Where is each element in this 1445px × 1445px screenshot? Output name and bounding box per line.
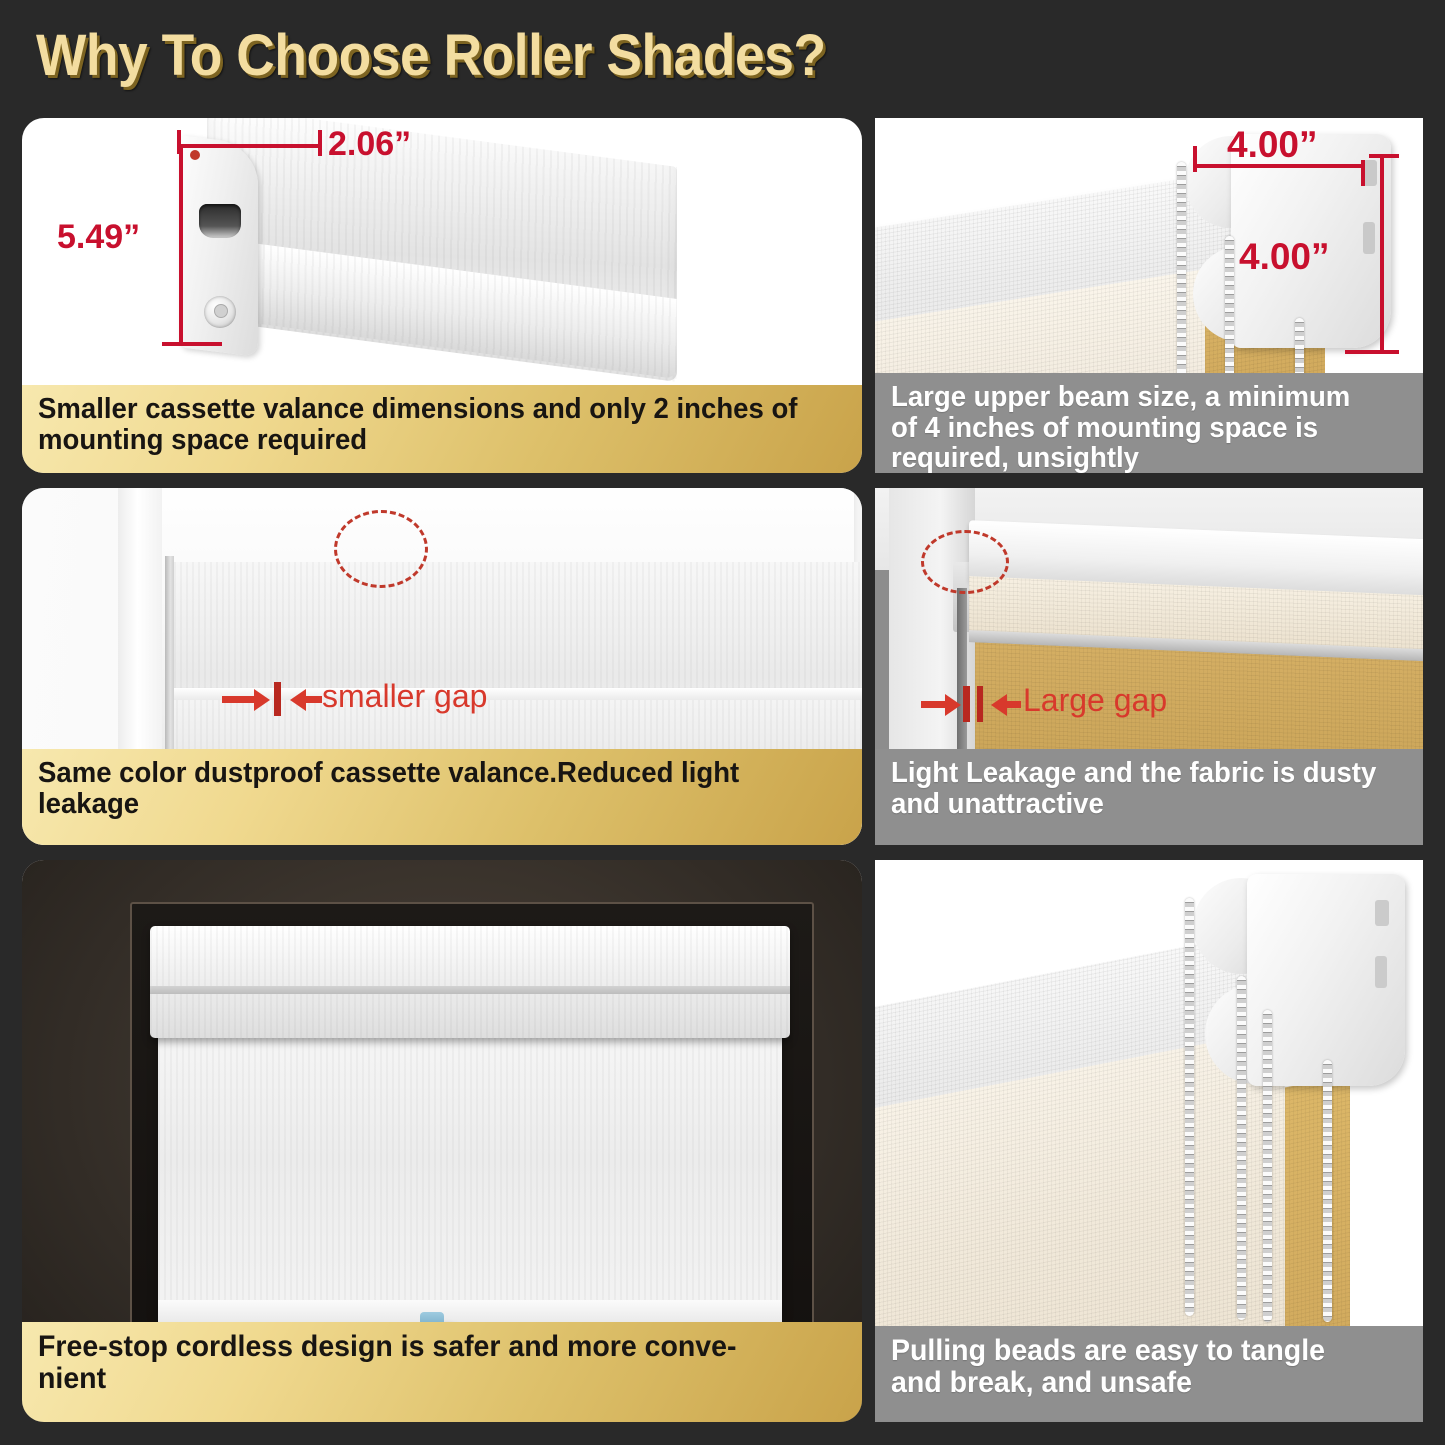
width-dimension-line (177, 144, 322, 148)
bracket-slot-top (1363, 160, 1377, 186)
beam-width-tick-left (1193, 146, 1197, 172)
bead-chain-right (1323, 1060, 1332, 1322)
width-dimension-tick-right (318, 130, 322, 156)
dimension-anchor-dot (190, 150, 200, 160)
valance-seam-line (150, 986, 790, 994)
infographic-page: Why To Choose Roller Shades? 2.06” 5.49”… (0, 0, 1445, 1445)
bead-chain-inner (1263, 1010, 1272, 1322)
gap-label-large: Large gap (1023, 682, 1167, 719)
gap-arrow-right-shaft (304, 696, 322, 703)
caption-large-upper-beam: Large upper beam size, a minimum of 4 in… (875, 373, 1423, 473)
cassette-valance (150, 926, 790, 1038)
gap-arrow-left-shaft (222, 696, 256, 703)
caption-text: Smaller cassette valance dimensions and … (38, 394, 806, 455)
caption-free-stop-cordless-design: Free-stop cordless design is safer and m… (22, 1322, 862, 1422)
gap-marker-line (274, 682, 281, 716)
gap-marker-line-a (963, 686, 970, 722)
beam-height-tick-top (1369, 154, 1399, 158)
bracket-slot-top (1375, 900, 1389, 926)
page-title: Why To Choose Roller Shades? (36, 22, 826, 89)
bead-chain-middle (1237, 976, 1246, 1320)
panel-light-leakage-dusty-fabric: Large gap Light Leakage and the fabric i… (875, 488, 1423, 845)
valance-slot (199, 204, 241, 238)
beam-width-label: 4.00” (1227, 124, 1318, 166)
beam-height-tick-bottom (1345, 350, 1399, 354)
bracket-slot-bottom (1375, 956, 1387, 988)
caption-text: Pulling beads are easy to tangle and bre… (891, 1335, 1381, 1399)
caption-text: Light Leakage and the fabric is dusty an… (891, 758, 1381, 819)
shade-fabric (158, 1028, 782, 1318)
caption-text-line1: Free-stop cordless design is safer and m… (38, 1331, 806, 1363)
bead-chain-left (1177, 162, 1186, 388)
beam-width-tick-right (1361, 160, 1365, 186)
valance-screw-head (214, 304, 228, 318)
height-dimension-tick-bottom (162, 342, 222, 346)
caption-cassette-valance-dimensions: Smaller cassette valance dimensions and … (22, 385, 862, 473)
gap-label-smaller: smaller gap (322, 678, 487, 715)
bead-chain-middle (1225, 236, 1234, 388)
height-dimension-line (179, 144, 183, 346)
caption-dustproof-cassette-valance: Same color dustproof cassette valance.Re… (22, 749, 862, 845)
caption-light-leakage-dusty-fabric: Light Leakage and the fabric is dusty an… (875, 749, 1423, 845)
caption-text: Large upper beam size, a minimum of 4 in… (891, 382, 1381, 473)
panel-free-stop-cordless-design: Free-stop cordless design is safer and m… (22, 860, 862, 1422)
width-dimension-label: 2.06” (328, 125, 411, 164)
height-dimension-label: 5.49” (57, 218, 140, 257)
caption-pulling-beads-unsafe: Pulling beads are easy to tangle and bre… (875, 1326, 1423, 1422)
highlight-ellipse-icon (334, 510, 428, 588)
panel-dustproof-cassette-valance: smaller gap Same color dustproof cassett… (22, 488, 862, 845)
caption-text: Same color dustproof cassette valance.Re… (38, 758, 806, 819)
panel-pulling-beads-unsafe: Pulling beads are easy to tangle and bre… (875, 860, 1423, 1422)
bead-chain-left (1185, 898, 1194, 1316)
highlight-ellipse-icon (921, 530, 1009, 594)
gap-arrow-left-head (254, 689, 270, 711)
gap-arrow-left-head (945, 694, 961, 716)
caption-text-line2: nient (38, 1363, 806, 1395)
panel-cassette-valance-dimensions: 2.06” 5.49” Smaller cassette valance dim… (22, 118, 862, 473)
beam-height-label: 4.00” (1239, 236, 1330, 278)
panel-large-upper-beam: 4.00” 4.00” Large upper beam size, a min… (875, 118, 1423, 473)
bracket-slot-bottom (1363, 222, 1375, 254)
gap-arrow-left-shaft (921, 701, 947, 708)
gap-arrow-right-shaft (1005, 701, 1021, 708)
gap-marker-line-b (977, 686, 983, 722)
beam-height-dimension-line (1380, 154, 1384, 354)
